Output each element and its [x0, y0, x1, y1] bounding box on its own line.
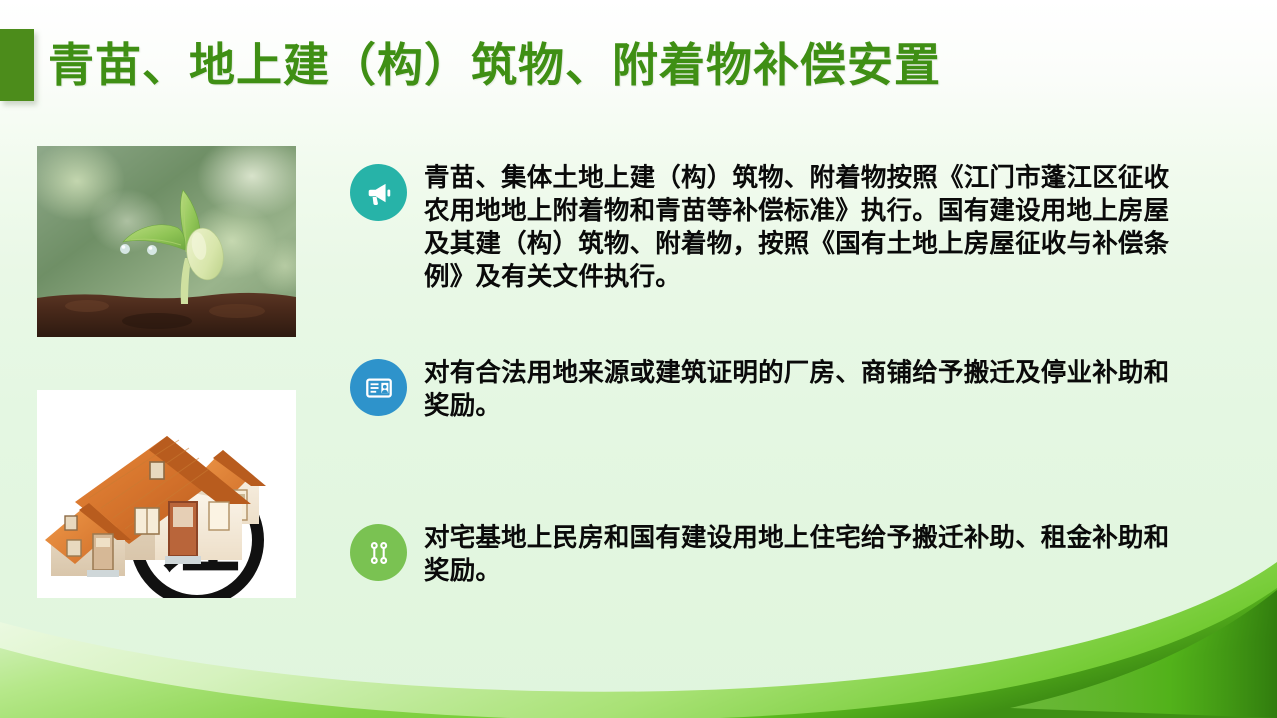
connector-icon [350, 524, 407, 581]
seedling-image [37, 146, 296, 337]
bullet-text-3: 对宅基地上民房和国有建设用地上住宅给予搬迁补助、租金补助和奖励。 [424, 522, 1180, 588]
title-marker-square [0, 29, 34, 101]
bullet-item-2: 对有合法用地来源或建筑证明的厂房、商铺给予搬迁及停业补助和奖励。 [350, 357, 1180, 423]
slide-canvas: 青苗、地上建（构）筑物、附着物补偿安置 [0, 0, 1277, 718]
houses-image: 证 [37, 390, 296, 598]
bullet-text-2: 对有合法用地来源或建筑证明的厂房、商铺给予搬迁及停业补助和奖励。 [424, 357, 1180, 423]
megaphone-icon [350, 164, 407, 221]
id-card-icon [350, 359, 407, 416]
bullet-item-3: 对宅基地上民房和国有建设用地上住宅给予搬迁补助、租金补助和奖励。 [350, 522, 1180, 588]
seedling-photo [37, 146, 296, 337]
slide-title-row: 青苗、地上建（构）筑物、附着物补偿安置 [0, 26, 941, 104]
page-title: 青苗、地上建（构）筑物、附着物补偿安置 [48, 41, 941, 89]
houses-certificate-photo: 证 [37, 390, 296, 598]
bullet-item-1: 青苗、集体土地上建（构）筑物、附着物按照《江门市蓬江区征收农用地地上附着物和青苗… [350, 162, 1180, 295]
bullet-text-1: 青苗、集体土地上建（构）筑物、附着物按照《江门市蓬江区征收农用地地上附着物和青苗… [424, 162, 1180, 295]
